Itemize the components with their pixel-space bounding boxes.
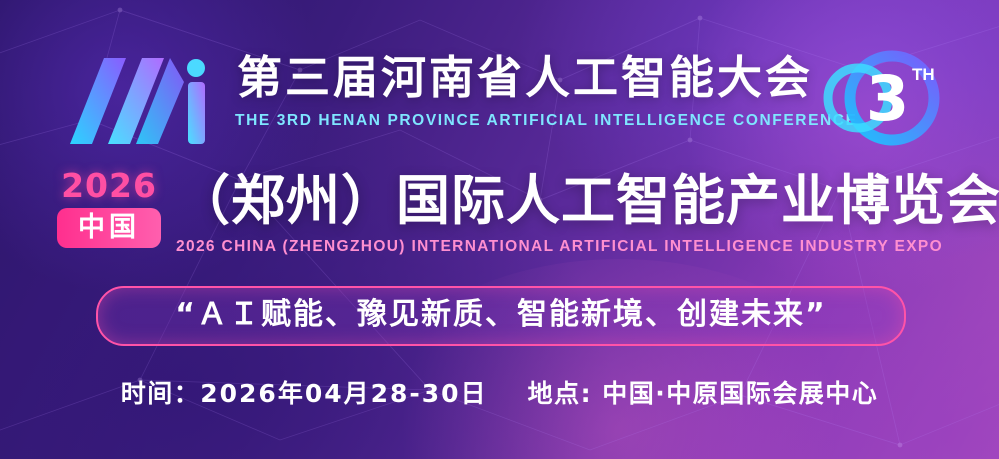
event-place-value: 中国·中原国际会展中心: [602, 379, 878, 408]
conference-title-cn: 第三届河南省人工智能大会: [235, 48, 815, 108]
svg-text:TH: TH: [912, 65, 935, 84]
expo-year: 2026: [46, 168, 172, 204]
conference-title-block: 第三届河南省人工智能大会 THE 3RD HENAN PROVINCE ARTI…: [235, 48, 815, 130]
slogan-text: “ＡＩ赋能、豫见新质、智能新境、创建未来”: [98, 288, 904, 344]
expo-title-cn: （郑州）国际人工智能产业博览会: [176, 168, 976, 234]
svg-text:3: 3: [866, 62, 909, 135]
conference-row: 第三届河南省人工智能大会 THE 3RD HENAN PROVINCE ARTI…: [0, 44, 999, 154]
expo-row: 2026 中国 （郑州）国际人工智能产业博览会 2026 CHINA (ZHEN…: [0, 160, 999, 270]
edition-3th-badge-icon: 3 TH: [820, 46, 950, 150]
event-banner: 第三届河南省人工智能大会 THE 3RD HENAN PROVINCE ARTI…: [0, 0, 999, 459]
conference-title-en: THE 3RD HENAN PROVINCE ARTIFICIAL INTELL…: [235, 112, 815, 130]
expo-title-en: 2026 CHINA (ZHENGZHOU) INTERNATIONAL ART…: [176, 238, 986, 256]
event-time-value: 2026年04月28-30日: [200, 379, 487, 408]
event-time-label: 时间：: [121, 379, 201, 408]
ai-logo-icon: [62, 52, 232, 148]
year-country-badge: 2026 中国: [46, 168, 172, 254]
event-time: 时间：2026年04月28-30日: [121, 374, 488, 410]
slogan-box: “ＡＩ赋能、豫见新质、智能新境、创建未来”: [96, 286, 906, 346]
event-info-footer: 时间：2026年04月28-30日 地点: 中国·中原国际会展中心: [0, 366, 999, 418]
event-place-label: 地点:: [528, 379, 593, 408]
event-place: 地点: 中国·中原国际会展中心: [528, 374, 879, 410]
expo-country-pill: 中国: [57, 208, 161, 248]
